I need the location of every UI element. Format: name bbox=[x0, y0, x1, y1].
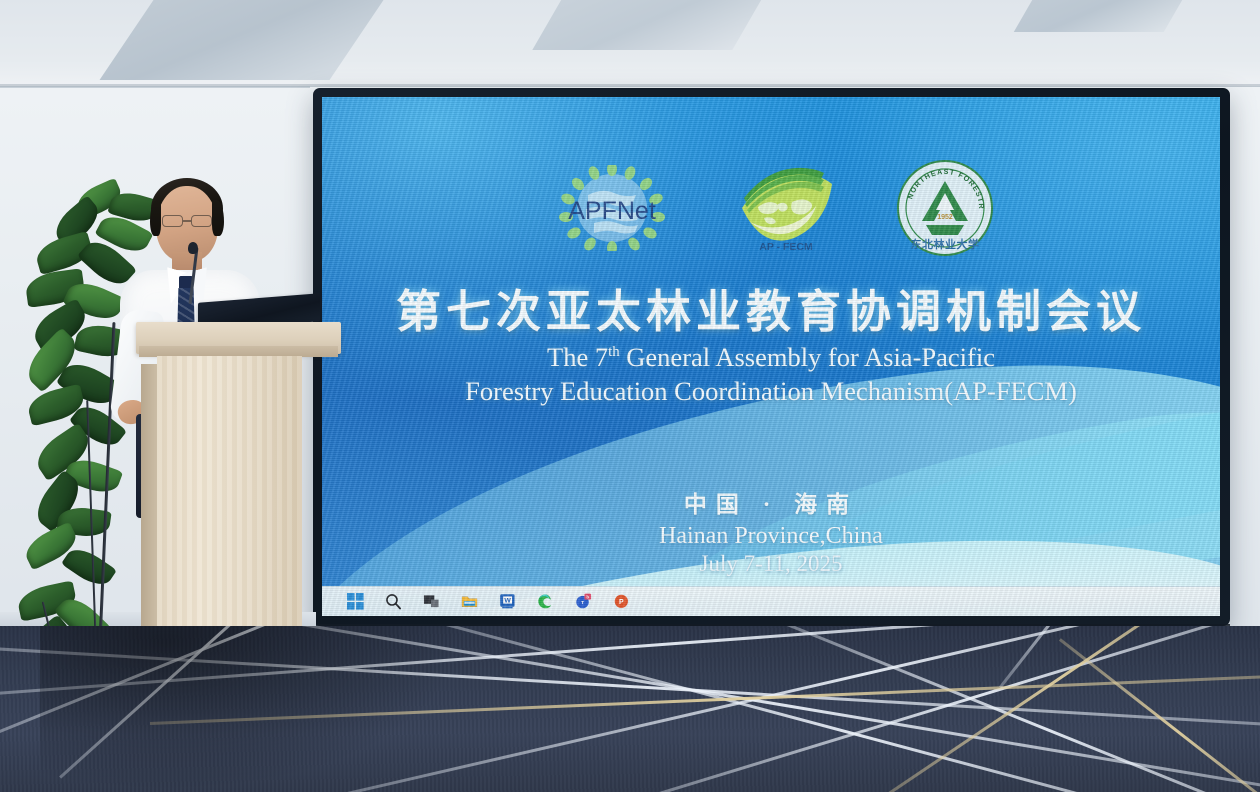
nefu-logo: NORTHEAST FORESTRY UNIVERSITY 1952 东北林业大… bbox=[896, 159, 994, 257]
subtitle-post: General Assembly for Asia-Pacific bbox=[620, 342, 995, 372]
venue-chinese: 中国 · 海南 bbox=[322, 485, 1220, 519]
slide-title-chinese: 第七次亚太林业教育协调机制会议 bbox=[322, 275, 1220, 340]
word-icon[interactable]: W bbox=[498, 592, 517, 611]
microphone-head bbox=[188, 242, 198, 254]
slide-venue-block: 中国 · 海南 Hainan Province,China July 7-11,… bbox=[322, 485, 1220, 577]
carpet-floor bbox=[0, 626, 1260, 792]
subtitle-ordinal-suffix: th bbox=[608, 344, 620, 360]
slide-logo-row: APFNet bbox=[322, 159, 1220, 257]
svg-text:P: P bbox=[619, 599, 624, 606]
wall-edge-line bbox=[0, 86, 310, 88]
nefu-cn-name: 东北林业大学 bbox=[911, 237, 980, 251]
glasses-left-lens bbox=[162, 215, 183, 227]
start-icon[interactable] bbox=[346, 592, 365, 611]
conference-photo-scene: APFNet bbox=[0, 0, 1260, 792]
teams-icon[interactable]: T b bbox=[574, 592, 593, 611]
search-icon[interactable] bbox=[384, 592, 403, 611]
hair-left-side bbox=[150, 200, 161, 236]
apfnet-wordmark: APFNet bbox=[568, 197, 656, 225]
edge-icon[interactable] bbox=[536, 592, 555, 611]
svg-text:b: b bbox=[586, 594, 589, 599]
venue-dates: July 7-11, 2025 bbox=[322, 551, 1220, 577]
led-screen: APFNet bbox=[322, 97, 1220, 616]
glasses-bridge bbox=[183, 220, 191, 222]
slide-subtitle: The 7th General Assembly for Asia-Pacifi… bbox=[322, 340, 1220, 409]
slide-subtitle-line-2: Forestry Education Coordination Mechanis… bbox=[322, 374, 1220, 408]
ap-fecm-wordmark: AP - FECM bbox=[759, 241, 813, 253]
subtitle-pre: The 7 bbox=[547, 342, 608, 372]
windows-taskbar[interactable]: W T b bbox=[322, 586, 1220, 616]
slide-subtitle-line-1: The 7th General Assembly for Asia-Pacifi… bbox=[322, 340, 1220, 374]
slide-content: APFNet bbox=[322, 97, 1220, 616]
task-view-icon[interactable] bbox=[422, 592, 441, 611]
ap-fecm-logo: AP - FECM bbox=[734, 162, 838, 254]
podium-floor-shadow bbox=[40, 626, 460, 792]
file-explorer-icon[interactable] bbox=[460, 592, 479, 611]
venue-english: Hainan Province,China bbox=[322, 523, 1220, 550]
glasses-right-lens bbox=[191, 215, 212, 227]
svg-text:W: W bbox=[504, 597, 511, 604]
nefu-year: 1952 bbox=[937, 214, 953, 221]
apfnet-logo: APFNet bbox=[548, 165, 676, 251]
led-screen-frame: APFNet bbox=[313, 88, 1230, 626]
svg-text:T: T bbox=[581, 600, 584, 606]
powerpoint-icon[interactable]: P bbox=[612, 592, 631, 611]
